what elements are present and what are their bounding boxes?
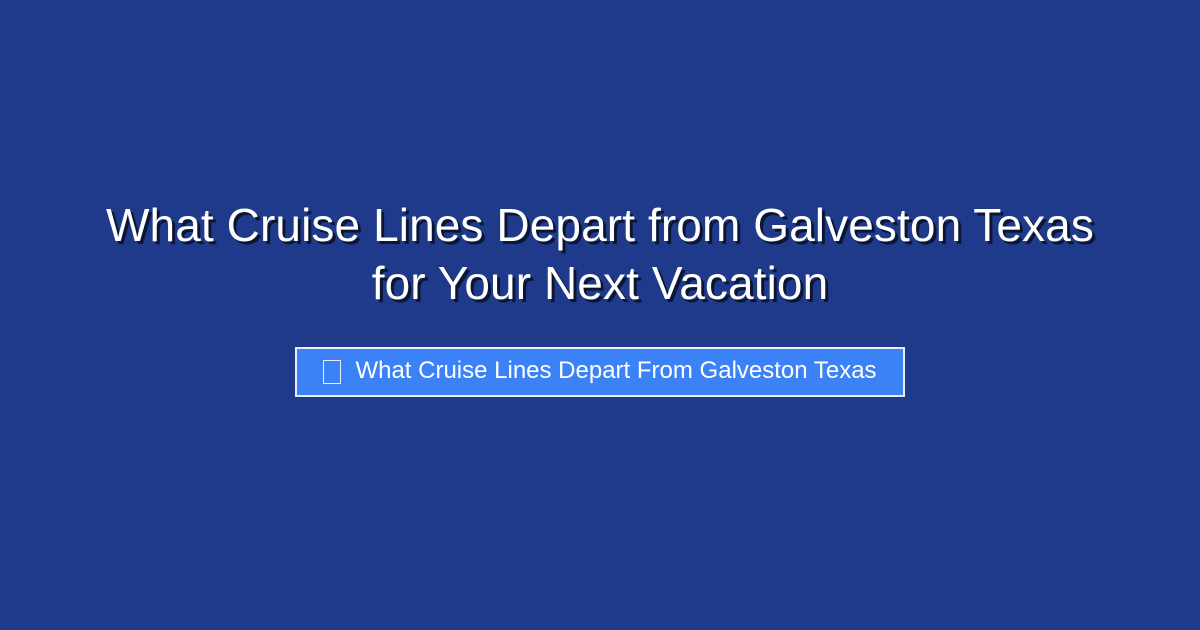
page-title: What Cruise Lines Depart from Galveston …: [40, 196, 1160, 312]
badge-container: What Cruise Lines Depart From Galveston …: [0, 347, 1200, 397]
topic-badge-button[interactable]: What Cruise Lines Depart From Galveston …: [295, 347, 904, 397]
topic-badge-label: What Cruise Lines Depart From Galveston …: [355, 356, 876, 386]
social-card: What Cruise Lines Depart from Galveston …: [0, 0, 1200, 630]
hero-title-block: What Cruise Lines Depart from Galveston …: [40, 196, 1160, 312]
missing-glyph-tofu-icon: [323, 360, 341, 384]
